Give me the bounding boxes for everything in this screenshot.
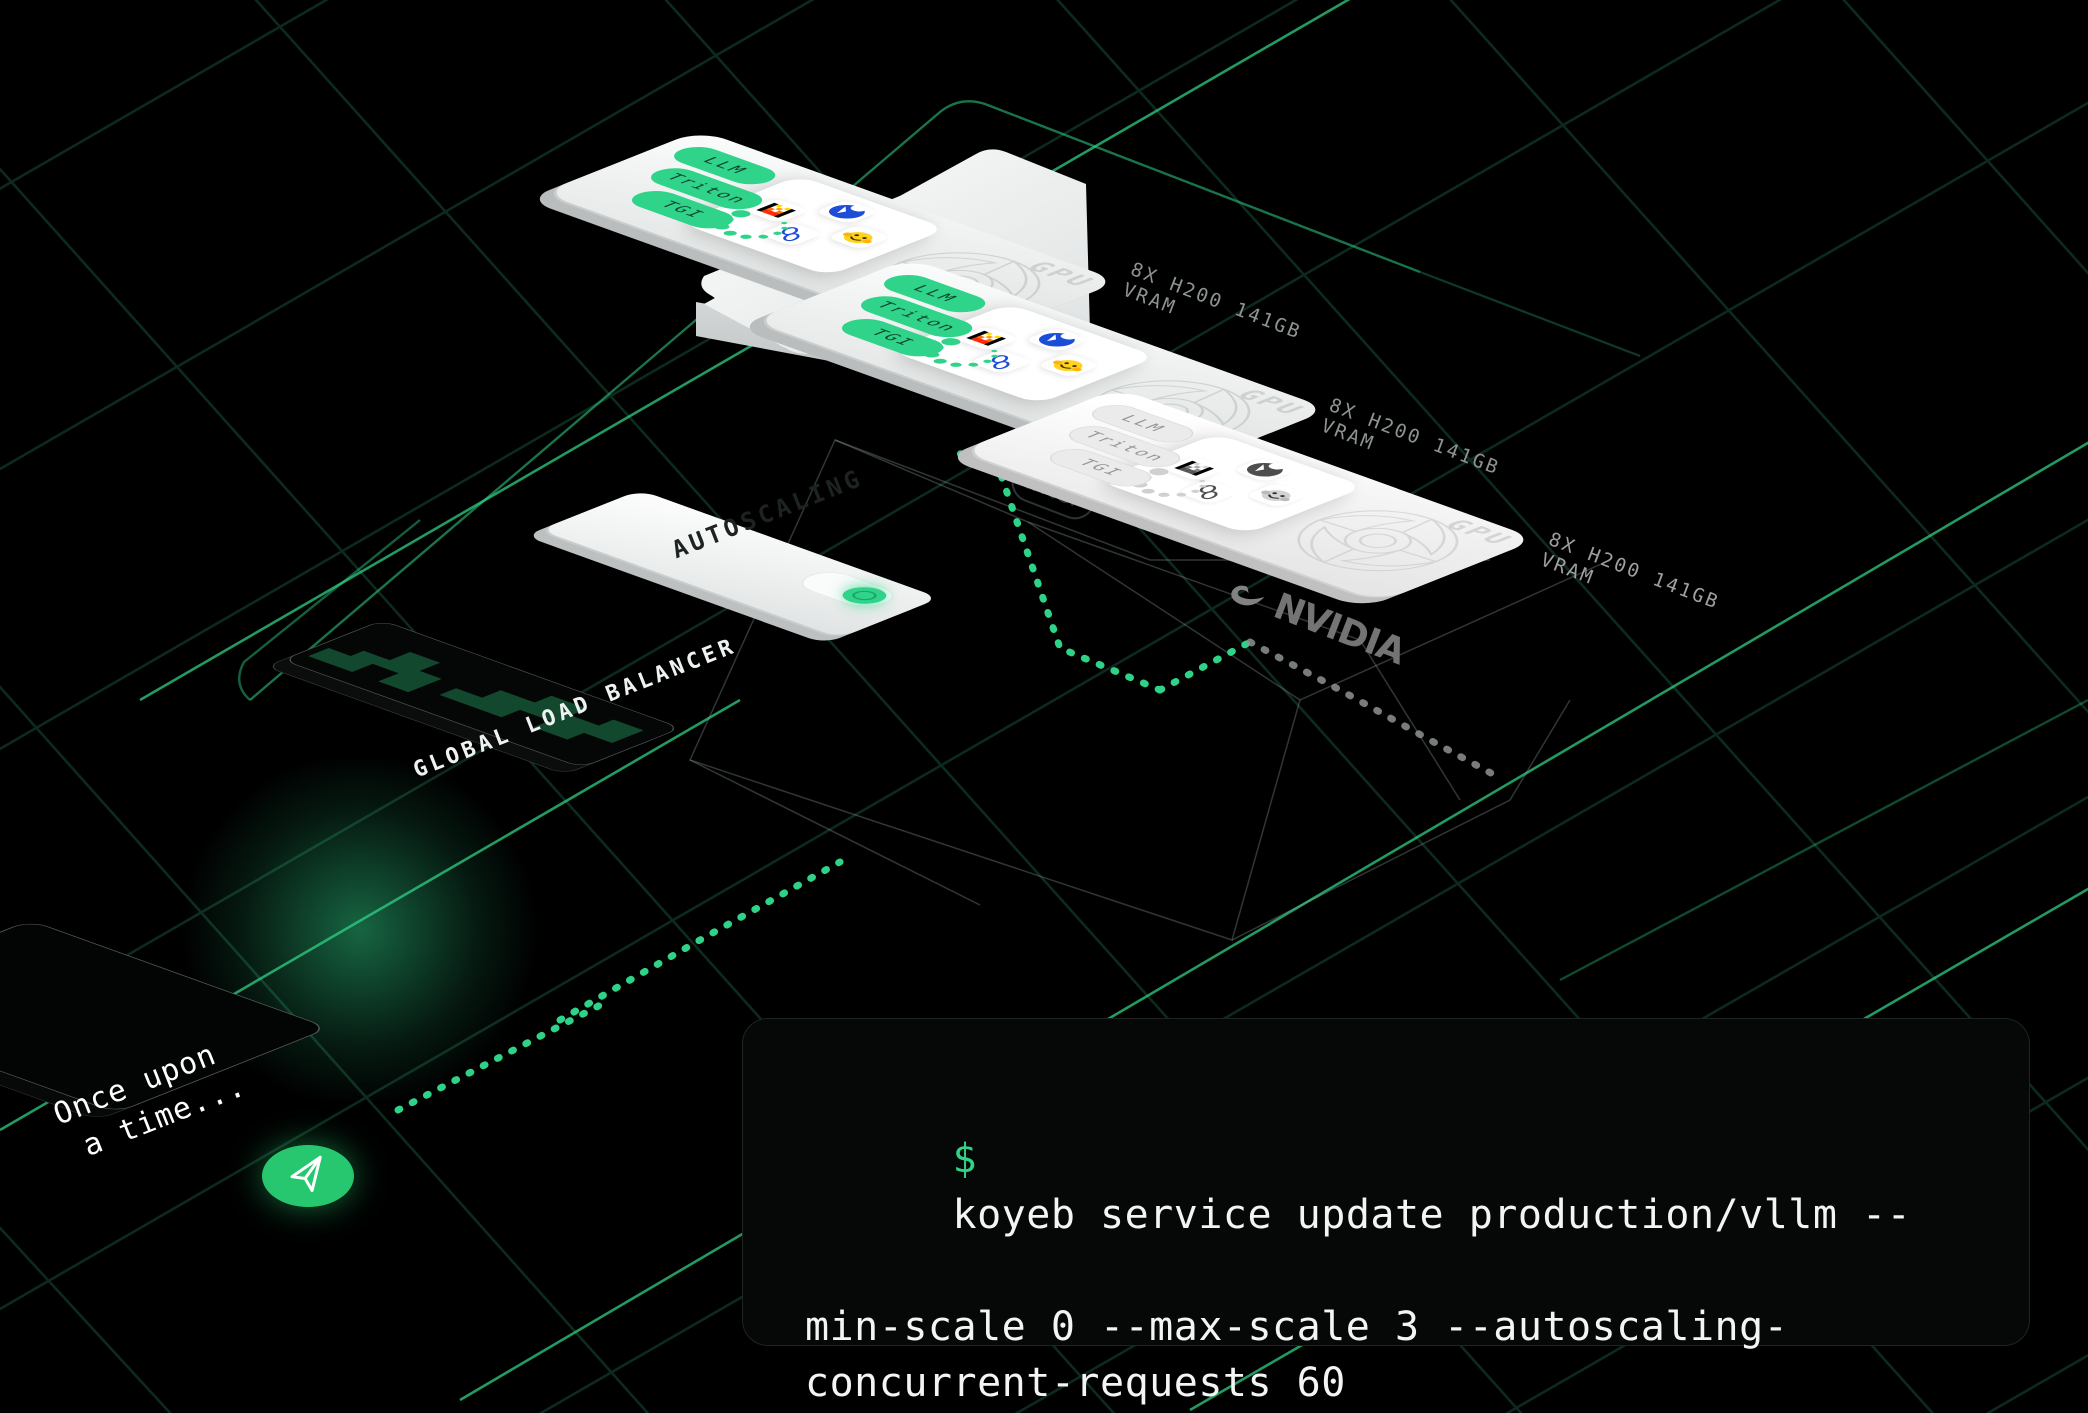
pill-label: LLM — [1115, 413, 1170, 434]
terminal-panel[interactable]: $ koyeb service update production/vllm -… — [742, 1018, 2030, 1346]
vllm-icon — [1232, 457, 1298, 482]
terminal-line-2: min-scale 0 --max-scale 3 --autoscaling- — [805, 1299, 1967, 1355]
terminal-prompt-symbol: $ — [953, 1136, 978, 1182]
terminal-line-3: concurrent-requests 60 — [805, 1355, 1967, 1411]
vllm-icon — [1024, 327, 1090, 352]
terminal-command-line-1: koyeb service update production/vllm -- — [953, 1192, 1912, 1238]
huggingface-icon — [1244, 483, 1310, 508]
connection-lb-to-autoscaling — [560, 862, 840, 1020]
send-button[interactable] — [262, 1145, 354, 1207]
huggingface-glyph — [832, 227, 886, 247]
huggingface-icon — [826, 225, 892, 250]
vllm-glyph — [1030, 330, 1084, 350]
pill-label: TGI — [1073, 457, 1128, 478]
pill-label: TGI — [865, 327, 920, 348]
huggingface-glyph — [1042, 355, 1096, 375]
connection-autoscaling-to-gpu2 — [1160, 642, 1250, 690]
pill-label: LLM — [907, 283, 962, 304]
terminal-line-1: $ koyeb service update production/vllm -… — [805, 1075, 1967, 1299]
paper-plane-icon — [284, 1152, 331, 1199]
huggingface-icon — [1036, 353, 1102, 378]
huggingface-glyph — [1250, 485, 1304, 505]
pill-label: TGI — [655, 199, 710, 220]
vllm-glyph — [820, 202, 874, 222]
autoscaling-toggle-knob — [834, 584, 896, 607]
isometric-scene: LLM Triton TGI GPU NVIDIA 8X H200 141GB … — [0, 0, 2088, 1413]
vllm-icon — [814, 199, 880, 224]
vllm-glyph — [1238, 460, 1292, 480]
connection-prompt-to-lb — [398, 1000, 610, 1110]
connection-autoscaling-to-gpu3 — [1250, 642, 1500, 778]
pill-label: LLM — [697, 155, 752, 176]
